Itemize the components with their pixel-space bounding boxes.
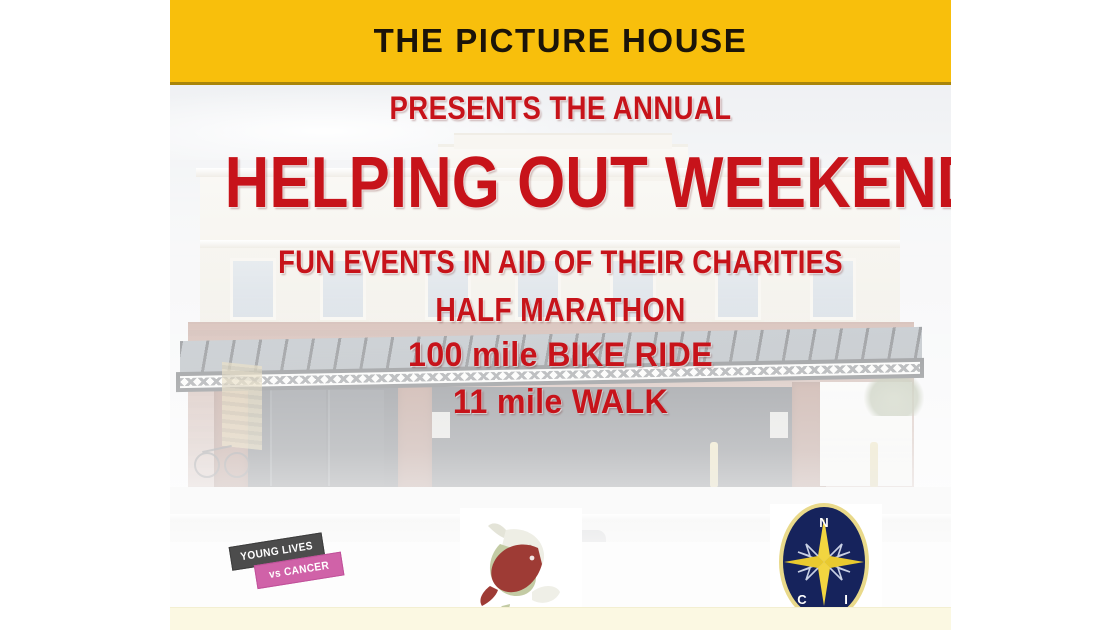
entrance-door: [270, 390, 326, 486]
young-lives-vs-cancer-logo: YOUNG LIVES vs CANCER: [229, 530, 348, 599]
window: [320, 258, 366, 320]
window: [425, 258, 471, 320]
footer-strip: [170, 607, 951, 630]
cornice: [196, 168, 904, 177]
vs-cancer-text: vs CANCER: [268, 560, 330, 581]
left-margin: [0, 0, 170, 630]
window: [610, 258, 656, 320]
window: [810, 258, 856, 320]
wall-poster: [432, 412, 450, 438]
brick-pier: [398, 382, 432, 492]
venue-banner: THE PICTURE HOUSE: [170, 0, 951, 85]
entrance-door: [328, 390, 384, 486]
wall-poster: [770, 412, 788, 438]
nci-letter-i: I: [844, 592, 848, 607]
venue-name: THE PICTURE HOUSE: [374, 22, 748, 60]
nci-letter-c: C: [797, 592, 807, 607]
fish-white-tail-icon: [532, 586, 560, 603]
window: [230, 258, 276, 320]
poster-canvas: THE PICTURE HOUSE PRESENTS THE ANNUAL HE…: [0, 0, 1120, 630]
flyer-image: THE PICTURE HOUSE PRESENTS THE ANNUAL HE…: [170, 0, 951, 630]
bollard: [710, 442, 718, 488]
background-photo: [170, 82, 951, 542]
right-margin: [951, 0, 1120, 630]
bicycle: [194, 434, 248, 476]
facade-band: [200, 240, 900, 248]
window: [515, 258, 561, 320]
bollard: [870, 442, 878, 488]
national-coastwatch-institution-logo: N C I: [776, 500, 872, 624]
nci-letter-north: N: [819, 515, 828, 530]
window: [715, 258, 761, 320]
